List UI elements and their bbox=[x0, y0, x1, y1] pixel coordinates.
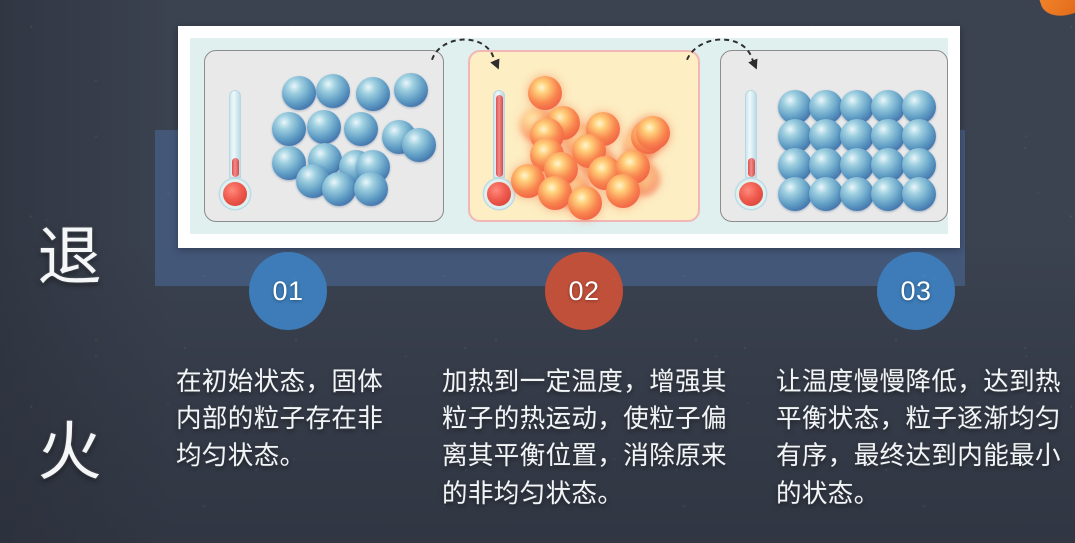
particle bbox=[272, 112, 306, 146]
slide-canvas: 退 火 过 程 bbox=[0, 0, 1075, 543]
particle bbox=[316, 74, 350, 108]
particle bbox=[282, 76, 316, 110]
particle bbox=[394, 73, 428, 107]
particle bbox=[344, 112, 378, 146]
particle bbox=[809, 177, 843, 211]
corner-accent-shape bbox=[1037, 0, 1075, 22]
particle bbox=[606, 174, 640, 208]
diagram-panel-annealed bbox=[720, 50, 948, 222]
particle-group-agitated-hot bbox=[468, 50, 700, 222]
particle bbox=[354, 172, 388, 206]
diagram-panel-heated bbox=[468, 50, 700, 222]
step-description-01: 在初始状态，固体内部的粒子存在非均匀状态。 bbox=[176, 364, 392, 476]
particle bbox=[528, 76, 562, 110]
particle bbox=[568, 186, 602, 220]
particle bbox=[402, 128, 436, 162]
step-number: 02 bbox=[568, 276, 599, 307]
step-badge-02: 02 bbox=[545, 252, 623, 330]
particle bbox=[902, 177, 936, 211]
step-description-03: 让温度慢慢降低，达到热平衡状态，粒子逐渐均匀有序，最终达到内能最小的状态。 bbox=[776, 364, 1068, 513]
step-description-02: 加热到一定温度，增强其粒子的热运动，使粒子偏离其平衡位置，消除原来的非均匀状态。 bbox=[442, 364, 742, 513]
particle bbox=[840, 177, 874, 211]
particle bbox=[636, 116, 670, 150]
step-badge-01: 01 bbox=[249, 252, 327, 330]
diagram-panel-initial bbox=[204, 50, 444, 222]
particle bbox=[307, 110, 341, 144]
step-number: 03 bbox=[900, 276, 931, 307]
title-char-1: 退 bbox=[24, 225, 116, 290]
particle-group-ordered-lattice bbox=[720, 50, 948, 222]
particle bbox=[778, 177, 812, 211]
particle bbox=[356, 77, 390, 111]
particle bbox=[538, 176, 572, 210]
diagram-picture-frame bbox=[178, 26, 960, 248]
step-badge-03: 03 bbox=[877, 252, 955, 330]
particle bbox=[322, 172, 356, 206]
particle bbox=[871, 177, 905, 211]
particle-group-disordered-cold bbox=[204, 50, 444, 222]
page-title: 退 火 过 程 bbox=[24, 94, 116, 543]
title-char-2: 火 bbox=[24, 420, 116, 485]
step-number: 01 bbox=[272, 276, 303, 307]
annealing-diagram bbox=[190, 38, 948, 234]
